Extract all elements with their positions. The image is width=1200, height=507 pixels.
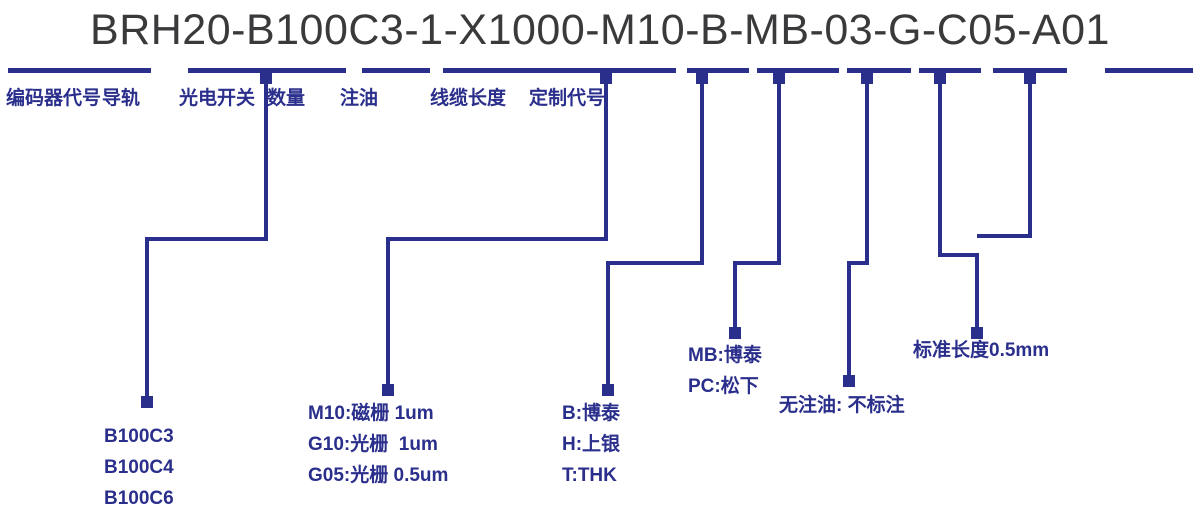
field-label-encoder-code: 编码器代号 [6,86,101,112]
field-underline-photo-switch [757,68,839,73]
leader-line-body-model [147,74,266,400]
leader-line-quantity [849,74,867,379]
note-line: B:博泰 [562,398,620,429]
note-line: H:上银 [562,429,620,460]
leader-endpoint-photo-switch [729,327,741,339]
field-underline-slide-count [362,68,430,73]
note-line: T:THK [562,460,620,491]
field-label-oil-injection: 注油 [340,86,378,112]
field-underline-motor-model [188,68,346,73]
field-label-cable-length: 线缆长度 [430,86,506,112]
field-underline-oil-injection [919,68,981,73]
leader-line-photo-switch [735,74,779,331]
note-line: G10:光栅 1um [308,429,448,460]
note-oil-injection-note: 无注油: 不标注 [779,390,905,421]
field-underline-body-model [8,68,151,73]
field-label-custom-code: 定制代号 [529,86,605,112]
note-photo-switch-options: MB:博泰PC:松下 [688,340,762,402]
leader-endpoint-body-model [141,396,153,408]
note-line: 标准长度0.5mm [913,335,1049,366]
field-label-quantity: 数量 [267,86,305,112]
note-line: B100C4 [104,452,174,483]
leader-anchor-photo-switch [773,72,785,84]
field-underline-custom-code [1105,68,1193,73]
leader-line-cable-length [977,74,1030,236]
leader-anchor-body-model [260,72,272,84]
model-code-string: BRH20-B100C3-1-X1000-M10-B-MB-03-G-C05-A… [0,2,1200,58]
model-code-diagram: BRH20-B100C3-1-X1000-M10-B-MB-03-G-C05-A… [0,0,1200,507]
note-body-model-options: B100C3B100C4B100C6 [104,421,174,507]
note-line: MB:博泰 [688,340,762,371]
field-label-photo-switch: 光电开关 [179,86,255,112]
leader-anchor-cable-length [1024,72,1036,84]
note-line: 无注油: 不标注 [779,390,905,421]
leader-endpoint-quantity [843,375,855,387]
note-line: PC:松下 [688,371,762,402]
note-encoder-options: M10:磁栅 1umG10:光栅 1umG05:光栅 0.5um [308,398,448,491]
note-line: B100C6 [104,483,174,507]
leader-anchor-oil-injection [934,72,946,84]
note-guide-rail-options: B:博泰H:上银T:THK [562,398,620,491]
leader-line-oil-injection [940,74,977,331]
leader-anchor-encoder-code [600,72,612,84]
note-line: B100C3 [104,421,174,452]
leader-anchor-quantity [861,72,873,84]
leader-line-encoder-code [388,74,606,388]
leader-endpoint-encoder-code [382,384,394,396]
field-underline-quantity [847,68,911,73]
field-underline-encoder-code [561,68,676,73]
note-line: G05:光栅 0.5um [308,460,448,491]
field-underline-guide-rail [687,68,749,73]
note-cable-length-note: 标准长度0.5mm [913,335,1049,366]
field-underline-cable-length [993,68,1067,73]
leader-endpoint-guide-rail [602,384,614,396]
field-label-guide-rail: 导轨 [102,86,140,112]
leader-anchor-guide-rail [696,72,708,84]
note-line: M10:磁栅 1um [308,398,448,429]
